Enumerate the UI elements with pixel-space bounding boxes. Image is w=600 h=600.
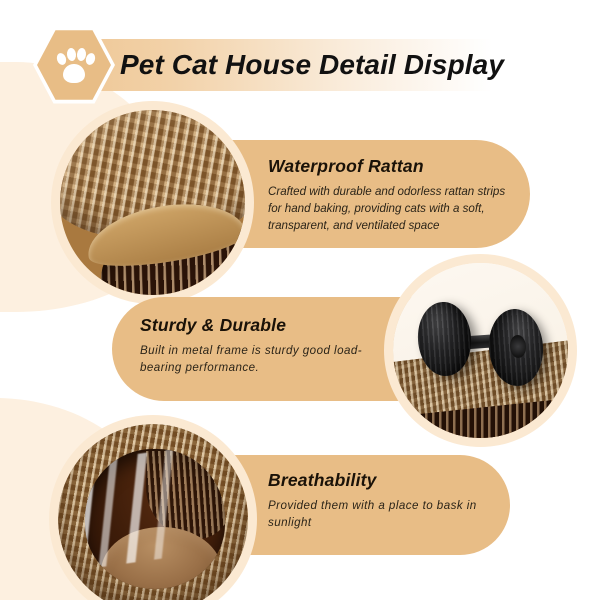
feature-photo-sturdy-durable bbox=[393, 263, 568, 438]
page-title: Pet Cat House Detail Display bbox=[120, 42, 540, 88]
feature-body-sturdy-durable: Built in metal frame is sturdy good load… bbox=[140, 343, 370, 377]
feature-body-waterproof-rattan: Crafted with durable and odorless rattan… bbox=[268, 184, 518, 234]
feature-title-breathability: Breathability bbox=[268, 470, 377, 491]
paw-print-icon bbox=[54, 45, 94, 85]
feature-body-breathability: Provided them with a place to bask in su… bbox=[268, 498, 488, 532]
infographic-canvas: Pet Cat House Detail Display Waterproof … bbox=[0, 0, 600, 600]
feature-photo-breathability bbox=[58, 424, 248, 600]
feature-photo-waterproof-rattan bbox=[60, 110, 245, 295]
feature-title-sturdy-durable: Sturdy & Durable bbox=[140, 315, 286, 336]
feature-title-waterproof-rattan: Waterproof Rattan bbox=[268, 156, 424, 177]
